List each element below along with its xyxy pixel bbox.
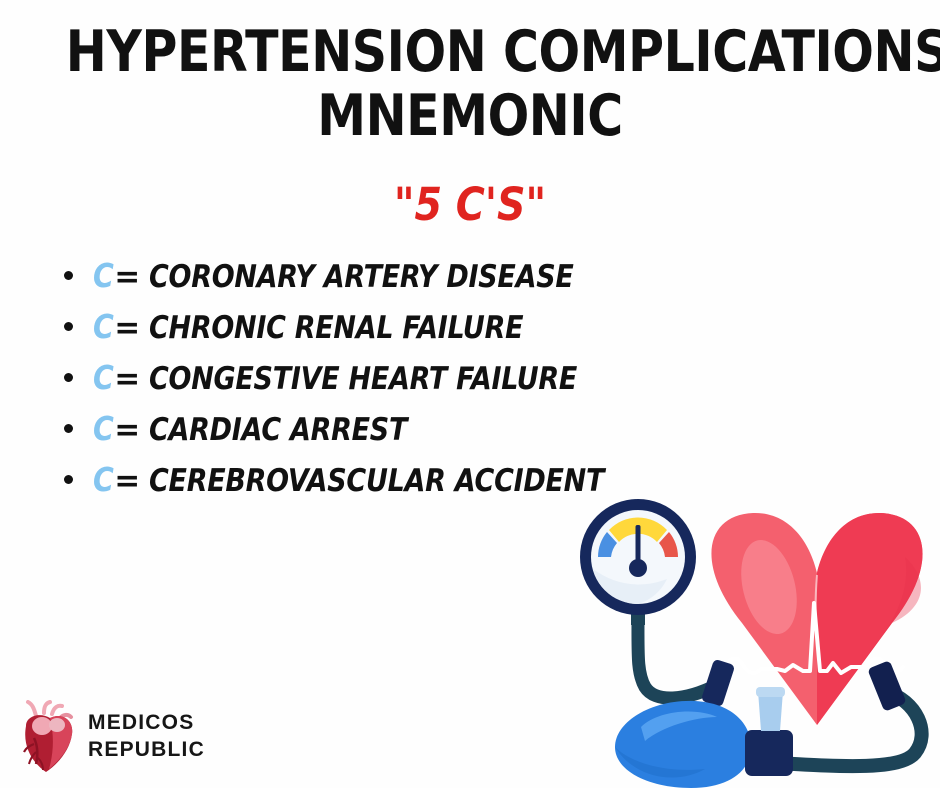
page-title-line-2: MNEMONIC	[66, 86, 874, 146]
poster-heading: HYPERTENSION COMPLICATIONS MNEMONIC	[0, 22, 940, 147]
mnemonic-separator: =	[114, 361, 140, 397]
mnemonic-item-label: CARDIAC ARREST	[149, 412, 407, 448]
bullet-icon	[64, 373, 73, 382]
bullet-icon	[64, 322, 73, 331]
list-item: C = CORONARY ARTERY DISEASE	[64, 256, 824, 307]
list-item: C = CONGESTIVE HEART FAILURE	[64, 358, 824, 409]
page-title-line-1: HYPERTENSION COMPLICATIONS	[66, 22, 874, 82]
list-item: C = CARDIAC ARREST	[64, 409, 824, 460]
mnemonic-item-label: CHRONIC RENAL FAILURE	[149, 310, 523, 346]
mnemonic-item-label: CEREBROVASCULAR ACCIDENT	[149, 463, 604, 499]
gauge-tube	[638, 613, 717, 698]
mnemonic-key-letter: C	[93, 358, 114, 397]
brand-name: MEDICOS REPUBLIC	[88, 710, 205, 764]
mnemonic-separator: =	[114, 463, 140, 499]
left-cuff-clip	[701, 659, 736, 708]
mnemonic-separator: =	[114, 412, 140, 448]
mnemonic-subtitle: "5 C'S"	[56, 178, 883, 231]
mnemonic-key-letter: C	[93, 460, 114, 499]
bullet-icon	[64, 475, 73, 484]
list-item: C = CHRONIC RENAL FAILURE	[64, 307, 824, 358]
bullet-icon	[64, 424, 73, 433]
mnemonic-key-letter: C	[93, 307, 114, 346]
valve-collar	[745, 730, 793, 776]
brand-logo: MEDICOS REPUBLIC	[16, 700, 205, 774]
brand-name-line-1: MEDICOS	[88, 710, 205, 737]
anatomical-heart-icon	[16, 700, 78, 774]
mnemonic-separator: =	[114, 310, 140, 346]
mnemonic-key-letter: C	[93, 256, 114, 295]
mnemonic-item-label: CONGESTIVE HEART FAILURE	[149, 361, 577, 397]
blood-pressure-monitor-illustration	[545, 495, 940, 788]
mnemonic-list: C = CORONARY ARTERY DISEASE C = CHRONIC …	[64, 256, 824, 511]
mnemonic-item-label: CORONARY ARTERY DISEASE	[149, 259, 574, 295]
brand-name-line-2: REPUBLIC	[88, 737, 205, 764]
pressure-gauge	[580, 499, 696, 625]
mnemonic-separator: =	[114, 259, 140, 295]
mnemonic-key-letter: C	[93, 409, 114, 448]
inflation-bulb	[615, 687, 793, 788]
bullet-icon	[64, 271, 73, 280]
gauge-pivot	[629, 559, 647, 577]
